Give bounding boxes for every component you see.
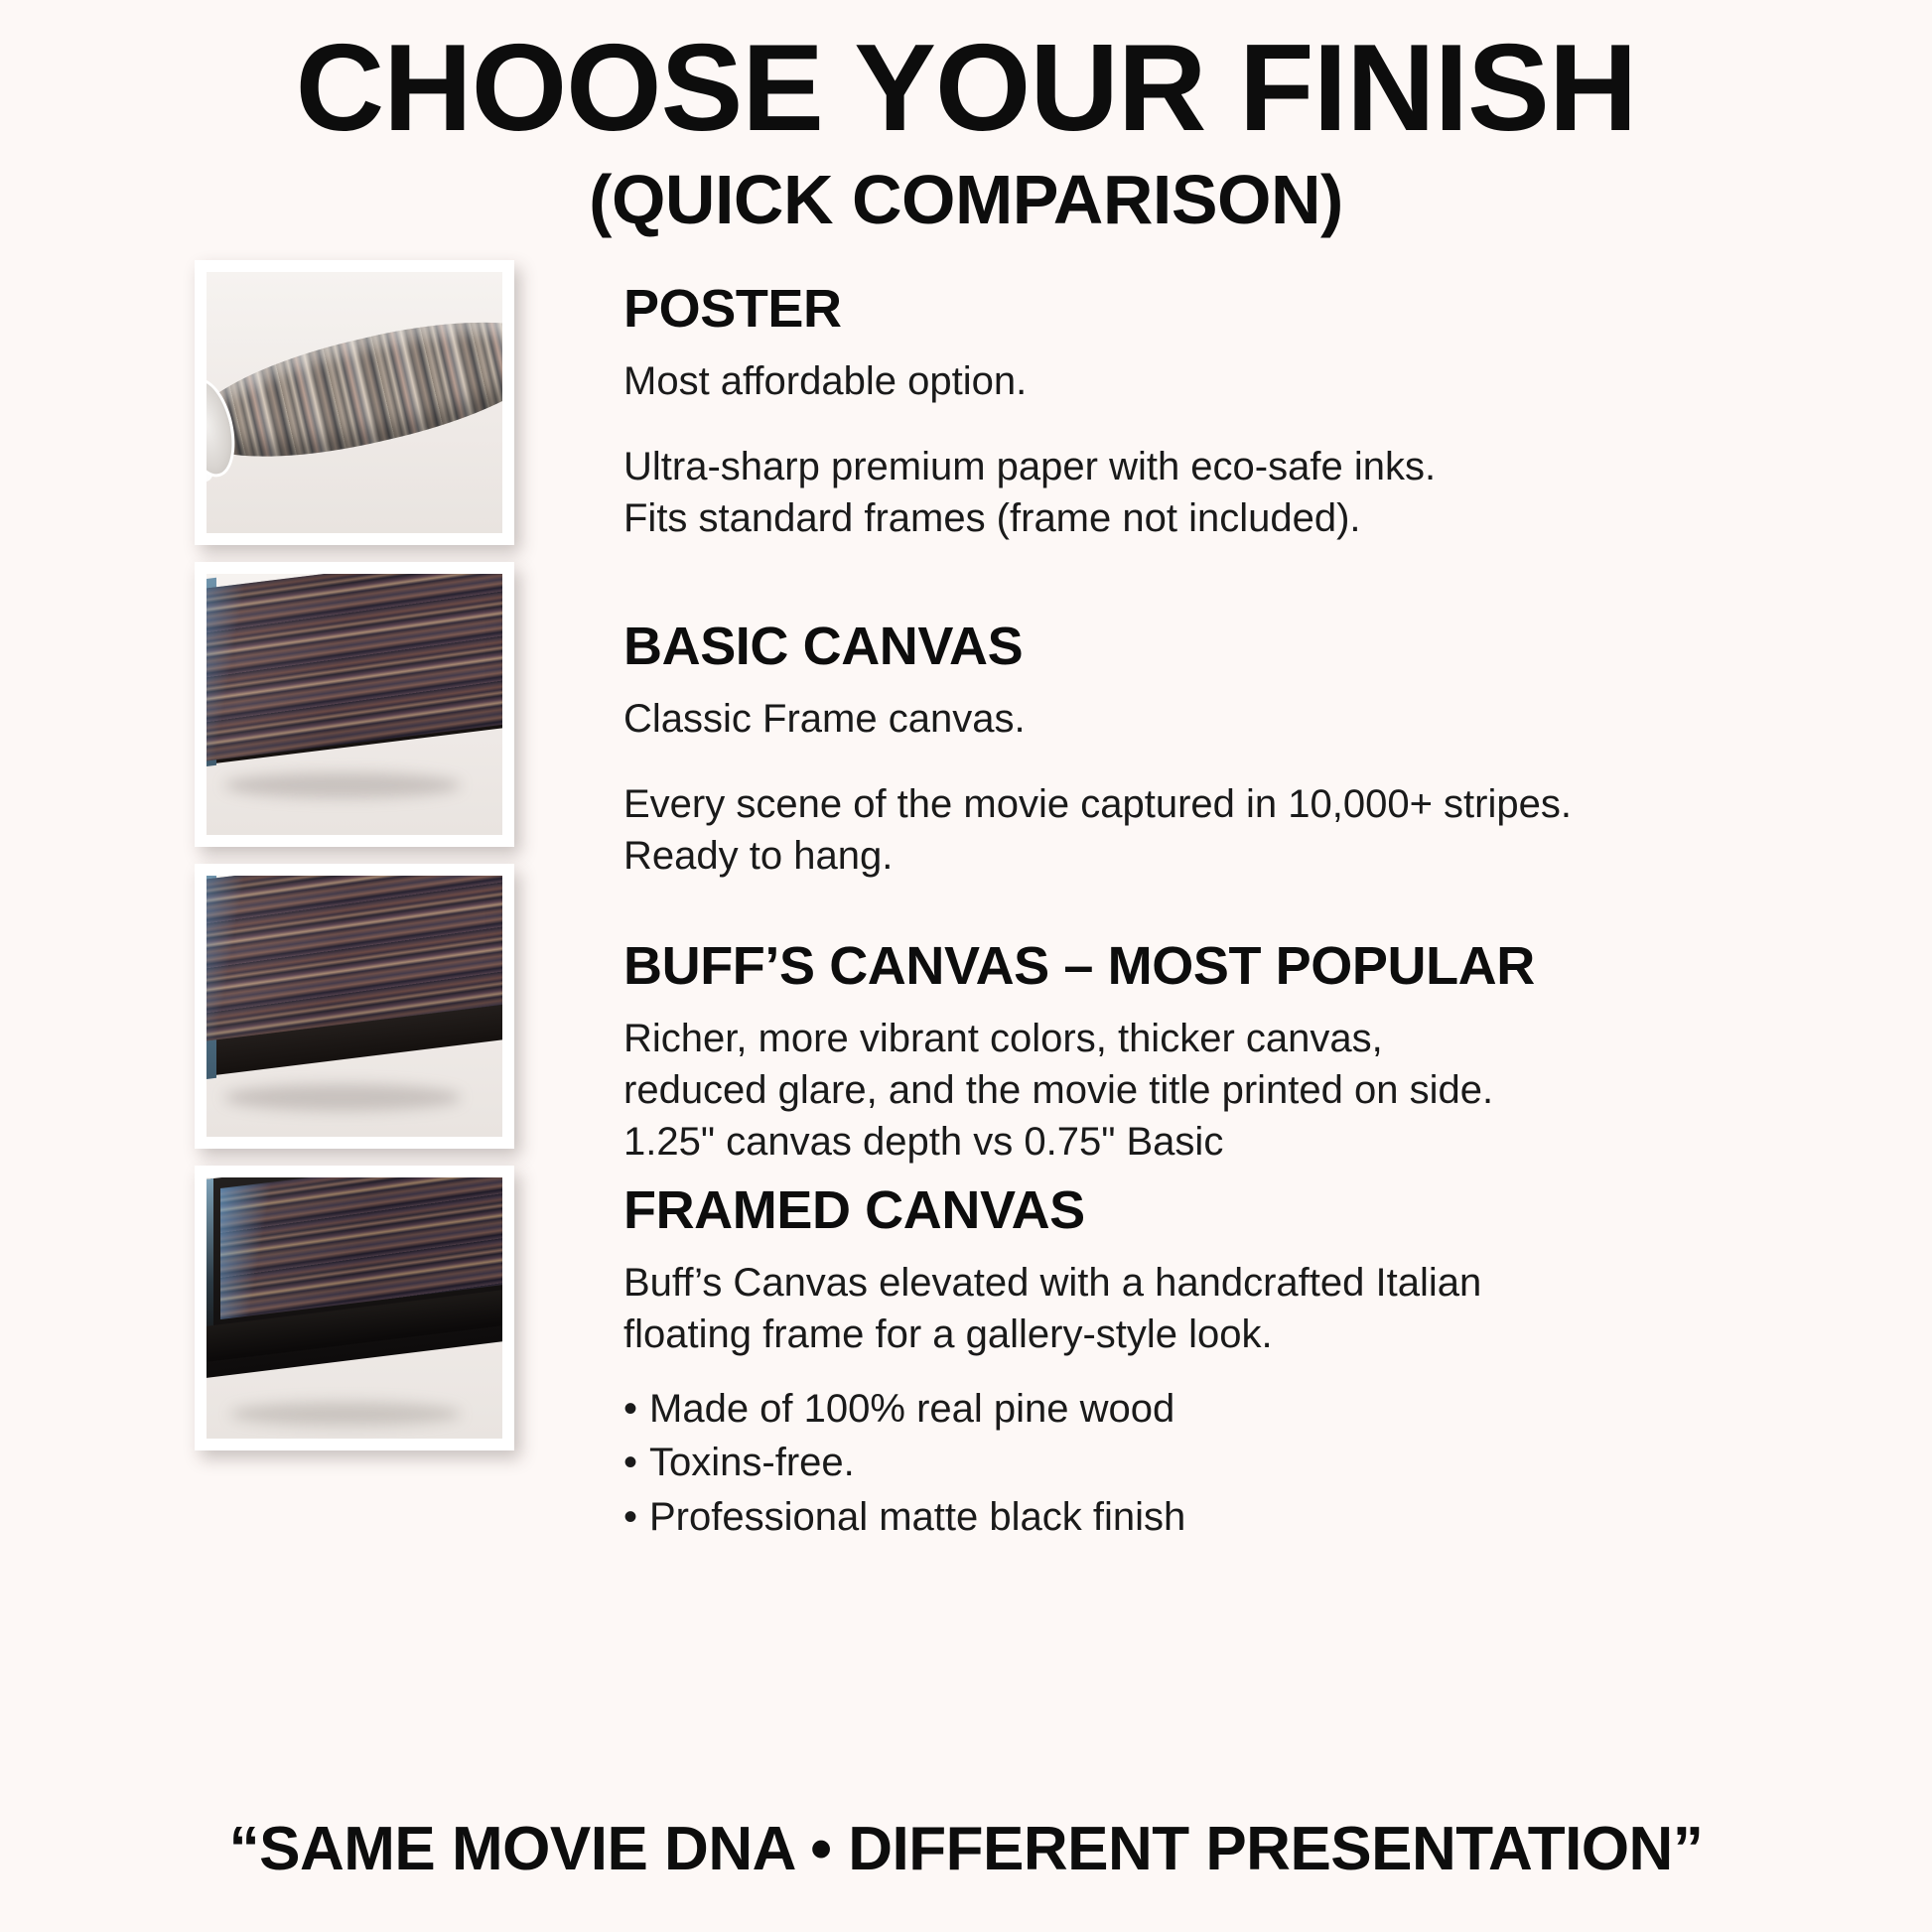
finish-option-basic-canvas[interactable]: BASIC CANVAS Classic Frame canvas. Every… bbox=[0, 562, 1932, 850]
floating-frame-graphic bbox=[207, 1180, 502, 1379]
list-item: Toxins-free. bbox=[623, 1436, 1872, 1489]
poster-body: Ultra-sharp premium paper with eco-safe … bbox=[623, 441, 1872, 544]
page-header: CHOOSE YOUR FINISH (QUICK COMPARISON) bbox=[0, 0, 1932, 234]
page-subtitle: (QUICK COMPARISON) bbox=[0, 165, 1932, 234]
page-footer: “SAME MOVIE DNA • DIFFERENT PRESENTATION… bbox=[0, 1814, 1932, 1884]
buffs-canvas-title: BUFF’S CANVAS – MOST POPULAR bbox=[623, 939, 1872, 993]
poster-text-column: POSTER Most affordable option. Ultra-sha… bbox=[514, 260, 1932, 544]
canvas-sheen bbox=[207, 574, 502, 761]
basic-canvas-lead: Classic Frame canvas. bbox=[623, 693, 1872, 745]
buffs-canvas-body-line: 1.25" canvas depth vs 0.75" Basic bbox=[623, 1116, 1872, 1168]
framed-canvas-bullet-list: Made of 100% real pine wood Toxins-free.… bbox=[623, 1382, 1872, 1544]
basic-canvas-body-line: Every scene of the movie captured in 10,… bbox=[623, 778, 1872, 830]
framed-canvas-title: FRAMED CANVAS bbox=[623, 1183, 1872, 1237]
list-item: Made of 100% real pine wood bbox=[623, 1382, 1872, 1436]
buffs-canvas-body: Richer, more vibrant colors, thicker can… bbox=[623, 1013, 1872, 1168]
framed-canvas-thumbnail-card[interactable] bbox=[195, 1166, 514, 1450]
poster-roll-photo bbox=[207, 272, 502, 533]
finish-option-buffs-canvas[interactable]: BUFF’S CANVAS – MOST POPULAR Richer, mor… bbox=[0, 864, 1932, 1152]
canvas-sheen bbox=[207, 876, 502, 1042]
canvas-face-wrap bbox=[207, 590, 502, 762]
basic-canvas-photo bbox=[207, 574, 502, 835]
basic-canvas-title: BASIC CANVAS bbox=[623, 620, 1872, 673]
footer-tagline: “SAME MOVIE DNA • DIFFERENT PRESENTATION… bbox=[0, 1814, 1932, 1884]
finish-option-framed-canvas[interactable]: FRAMED CANVAS Buff’s Canvas elevated wit… bbox=[0, 1166, 1932, 1453]
drop-shadow bbox=[224, 772, 461, 798]
poster-body-line: Ultra-sharp premium paper with eco-safe … bbox=[623, 441, 1872, 492]
buffs-canvas-body-line: reduced glare, and the movie title print… bbox=[623, 1064, 1872, 1116]
basic-canvas-text-column: BASIC CANVAS Classic Frame canvas. Every… bbox=[514, 562, 1932, 882]
canvas-face-wrap bbox=[207, 881, 502, 1042]
framed-canvas-text-column: FRAMED CANVAS Buff’s Canvas elevated wit… bbox=[514, 1166, 1932, 1544]
poster-title: POSTER bbox=[623, 282, 1872, 336]
framed-canvas-photo bbox=[207, 1177, 502, 1439]
poster-thumbnail-card[interactable] bbox=[195, 260, 514, 545]
buffs-canvas-body-line: Richer, more vibrant colors, thicker can… bbox=[623, 1013, 1872, 1064]
framed-canvas-body: Buff’s Canvas elevated with a handcrafte… bbox=[623, 1257, 1872, 1360]
framed-canvas-body-line: floating frame for a gallery-style look. bbox=[623, 1309, 1872, 1360]
framed-canvas-body-line: Buff’s Canvas elevated with a handcrafte… bbox=[623, 1257, 1872, 1309]
buffs-canvas-text-column: BUFF’S CANVAS – MOST POPULAR Richer, mor… bbox=[514, 864, 1932, 1168]
buffs-canvas-photo bbox=[207, 876, 502, 1137]
drop-shadow bbox=[224, 1084, 461, 1110]
list-item: Professional matte black finish bbox=[623, 1490, 1872, 1544]
poster-lead: Most affordable option. bbox=[623, 355, 1872, 407]
drop-shadow bbox=[230, 1402, 461, 1426]
basic-canvas-thumbnail-card[interactable] bbox=[195, 562, 514, 847]
buffs-canvas-thumbnail-card[interactable] bbox=[195, 864, 514, 1149]
finish-option-poster[interactable]: POSTER Most affordable option. Ultra-sha… bbox=[0, 260, 1932, 548]
page-title: CHOOSE YOUR FINISH bbox=[0, 26, 1932, 151]
poster-body-line: Fits standard frames (frame not included… bbox=[623, 492, 1872, 544]
